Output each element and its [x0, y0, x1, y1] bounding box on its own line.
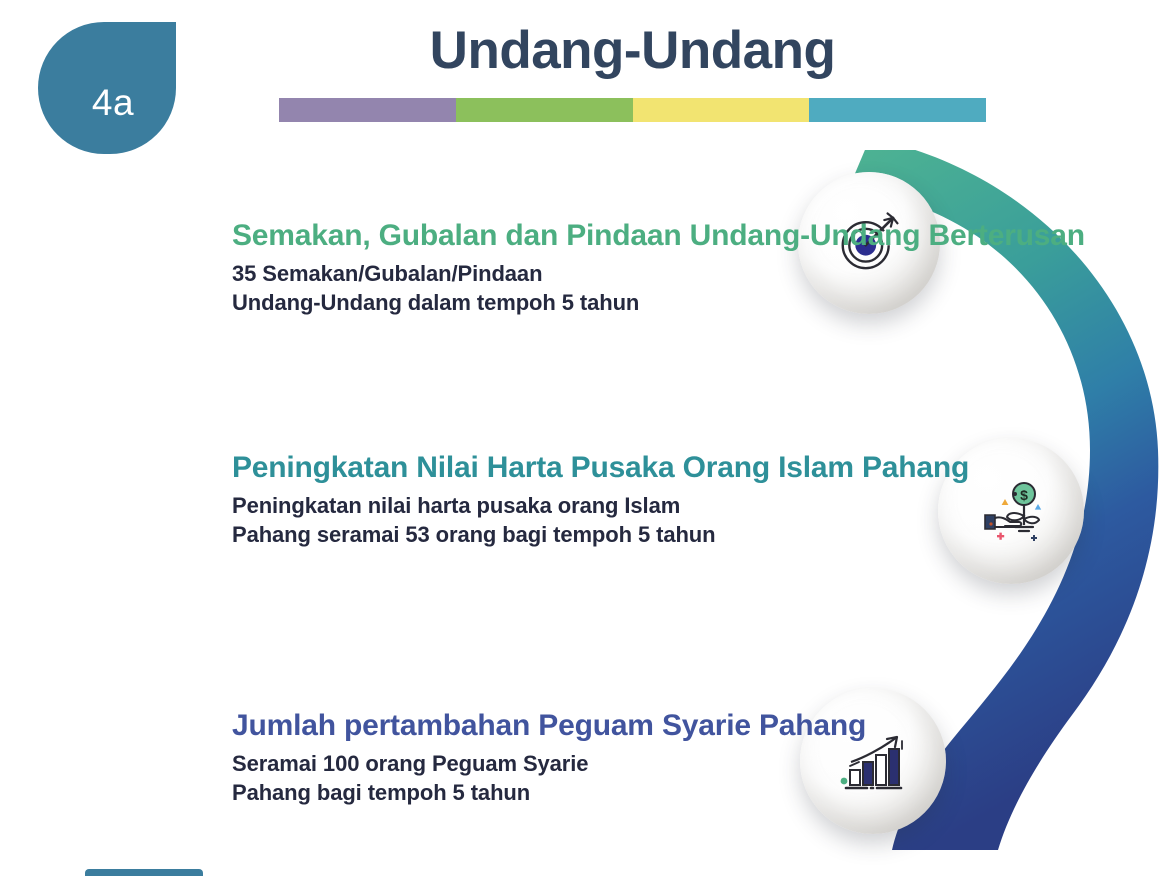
slide-canvas: 4a Undang-Undang	[0, 0, 1162, 876]
item-2-body: Peningkatan nilai harta pusaka orang Isl…	[232, 491, 969, 549]
item-2-body-line-2: Pahang seramai 53 orang bagi tempoh 5 ta…	[232, 520, 969, 549]
color-bar-segment-yellow	[633, 98, 810, 122]
item-3-body-line-1: Seramai 100 orang Peguam Syarie	[232, 749, 866, 778]
item-1-title-line-2: Undang-Undang Berterusan	[690, 219, 1085, 252]
item-3-body-line-2: Pahang bagi tempoh 5 tahun	[232, 778, 866, 807]
color-bar-segment-purple	[279, 98, 456, 122]
slide-number-label: 4a	[92, 84, 134, 121]
item-2-body-line-1: Peningkatan nilai harta pusaka orang Isl…	[232, 491, 969, 520]
next-slide-badge-sliver	[85, 869, 203, 876]
item-2-title-line-1: Peningkatan Nilai Harta Pusaka	[232, 451, 675, 484]
item-block-1: Semakan, Gubalan dan Pindaan Undang-Unda…	[232, 218, 1085, 317]
color-bar-segment-teal	[809, 98, 986, 122]
item-3-body: Seramai 100 orang Peguam Syarie Pahang b…	[232, 749, 866, 807]
item-1-body: 35 Semakan/Gubalan/Pindaan Undang-Undang…	[232, 259, 1085, 317]
item-3-title-line-2: Syarie Pahang	[662, 709, 866, 742]
slide-number-badge: 4a	[38, 22, 176, 154]
item-block-3: Jumlah pertambahan Peguam Syarie Pahang …	[232, 708, 866, 807]
svg-text:$: $	[1020, 487, 1028, 503]
item-1-title: Semakan, Gubalan dan Pindaan Undang-Unda…	[232, 218, 1085, 255]
page-title: Undang-Undang	[279, 22, 986, 79]
item-3-title: Jumlah pertambahan Peguam Syarie Pahang	[232, 708, 866, 745]
hand-money-plant-icon: $	[973, 473, 1049, 549]
item-3-title-line-1: Jumlah pertambahan Peguam	[232, 709, 654, 742]
item-1-body-line-2: Undang-Undang dalam tempoh 5 tahun	[232, 288, 1085, 317]
item-1-body-line-1: 35 Semakan/Gubalan/Pindaan	[232, 259, 1085, 288]
item-1-title-line-1: Semakan, Gubalan dan Pindaan	[232, 219, 682, 252]
item-2-title-line-2: Orang Islam Pahang	[683, 451, 969, 484]
item-2-title: Peningkatan Nilai Harta Pusaka Orang Isl…	[232, 450, 969, 487]
item-block-2: Peningkatan Nilai Harta Pusaka Orang Isl…	[232, 450, 969, 549]
color-bar	[279, 98, 986, 122]
color-bar-segment-green	[456, 98, 633, 122]
